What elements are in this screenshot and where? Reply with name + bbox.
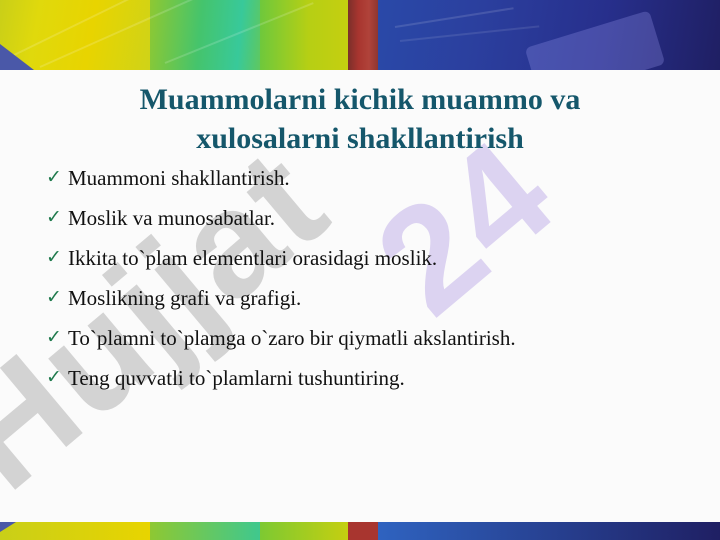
list-item: ✓ Muammoni shakllantirish. xyxy=(46,164,706,194)
slide-title: Muammolarni kichik muammo va xulosalarni… xyxy=(40,80,680,158)
top-banner-image xyxy=(0,0,720,70)
slide-canvas: Hujjat 24 Muammolarni kichik muammo va x… xyxy=(0,0,720,540)
list-item: ✓ Moslik va munosabatlar. xyxy=(46,204,706,234)
banner-band-red xyxy=(348,0,378,70)
check-icon: ✓ xyxy=(46,364,68,390)
list-item: ✓ Ikkita to`plam elementlari orasidagi m… xyxy=(46,244,706,274)
check-icon: ✓ xyxy=(46,244,68,270)
slide-title-line-1: Muammolarni kichik muammo va xyxy=(140,83,581,116)
bottom-band-green-2 xyxy=(260,522,348,540)
check-icon: ✓ xyxy=(46,324,68,350)
banner-corner-triangle xyxy=(0,44,34,70)
bullet-list: ✓ Muammoni shakllantirish. ✓ Moslik va m… xyxy=(46,164,706,404)
bottom-stripe xyxy=(0,522,720,540)
list-item: ✓ Teng quvvatli to`plamlarni tushuntirin… xyxy=(46,364,706,394)
check-icon: ✓ xyxy=(46,164,68,190)
check-icon: ✓ xyxy=(46,284,68,310)
list-item-label: Moslik va munosabatlar. xyxy=(68,204,275,232)
bottom-corner-triangle xyxy=(0,522,16,532)
slide-title-line-2: xulosalarni shakllantirish xyxy=(40,119,680,158)
bottom-band-blue xyxy=(378,522,720,540)
list-item-label: To`plamni to`plamga o`zaro bir qiymatli … xyxy=(68,324,516,352)
list-item: ✓ To`plamni to`plamga o`zaro bir qiymatl… xyxy=(46,324,706,354)
list-item-label: Ikkita to`plam elementlari orasidagi mos… xyxy=(68,244,437,272)
list-item-label: Teng quvvatli to`plamlarni tushuntiring. xyxy=(68,364,405,392)
bottom-band-yellow xyxy=(0,522,150,540)
list-item-label: Muammoni shakllantirish. xyxy=(68,164,290,192)
list-item-label: Moslikning grafi va grafigi. xyxy=(68,284,301,312)
list-item: ✓ Moslikning grafi va grafigi. xyxy=(46,284,706,314)
banner-band-green-2 xyxy=(260,0,348,70)
check-icon: ✓ xyxy=(46,204,68,230)
bottom-band-red xyxy=(348,522,378,540)
bottom-band-green xyxy=(150,522,260,540)
